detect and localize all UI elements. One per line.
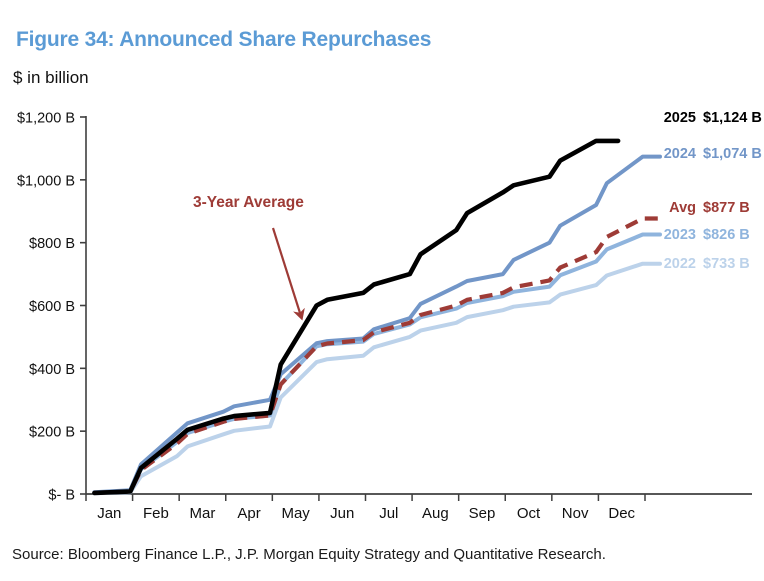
legend-2022-value: $733 B — [703, 256, 750, 272]
y-tick-label: $- B — [48, 488, 75, 504]
x-tick-label: Aug — [422, 505, 449, 522]
legend-2024-year: 2024 — [660, 146, 696, 162]
legend-avg-value: $877 B — [703, 200, 750, 216]
x-tick-label: Jan — [97, 505, 121, 522]
y-tick-label: $800 B — [29, 236, 75, 252]
figure-container: Figure 34: Announced Share Repurchases $… — [0, 0, 764, 581]
x-tick-label: May — [281, 505, 310, 522]
y-tick-label: $400 B — [29, 362, 75, 378]
legend-2025[interactable]: 2025$1,124 B — [660, 110, 762, 126]
legend-2025-year: 2025 — [660, 110, 696, 126]
x-tick-label: Oct — [517, 505, 541, 522]
legend-2025-value: $1,124 B — [703, 110, 762, 126]
x-tick-label: Jun — [330, 505, 354, 522]
legend-2023[interactable]: 2023$826 B — [660, 227, 750, 243]
series-line-2022 — [94, 264, 660, 494]
legend-2024[interactable]: 2024$1,074 B — [660, 146, 762, 162]
annotation-label: 3-Year Average — [193, 194, 304, 211]
x-tick-label: Apr — [237, 505, 260, 522]
legend-avg-year: Avg — [660, 200, 696, 216]
legend-2024-value: $1,074 B — [703, 146, 762, 162]
legend-2022-year: 2022 — [660, 256, 696, 272]
x-tick-label: Mar — [190, 505, 216, 522]
x-tick-label: Nov — [562, 505, 589, 522]
legend-avg[interactable]: Avg$877 B — [660, 200, 750, 216]
y-tick-label: $1,000 B — [17, 173, 75, 189]
legend-2023-value: $826 B — [703, 227, 750, 243]
x-tick-label: Sep — [469, 505, 496, 522]
legend-2023-year: 2023 — [660, 227, 696, 243]
three-year-average-annotation: 3-Year Average — [193, 194, 304, 313]
source-note: Source: Bloomberg Finance L.P., J.P. Mor… — [12, 546, 606, 563]
legend-2022[interactable]: 2022$733 B — [660, 256, 750, 272]
series-line-2025 — [94, 141, 618, 493]
x-tick-label: Jul — [379, 505, 398, 522]
y-tick-label: $1,200 B — [17, 111, 75, 127]
y-axis: $1,200 B$1,000 B$800 B$600 B$400 B$200 B… — [17, 111, 86, 504]
chart-plot-area: $1,200 B$1,000 B$800 B$600 B$400 B$200 B… — [0, 0, 764, 581]
y-tick-label: $600 B — [29, 299, 75, 315]
y-tick-label: $200 B — [29, 425, 75, 441]
annotation-arrow — [273, 228, 300, 313]
series-lines — [94, 141, 660, 493]
x-axis: JanFebMarAprMayJunJulAugSepOctNovDec — [86, 494, 752, 522]
x-tick-label: Feb — [143, 505, 169, 522]
x-tick-label: Dec — [608, 505, 635, 522]
